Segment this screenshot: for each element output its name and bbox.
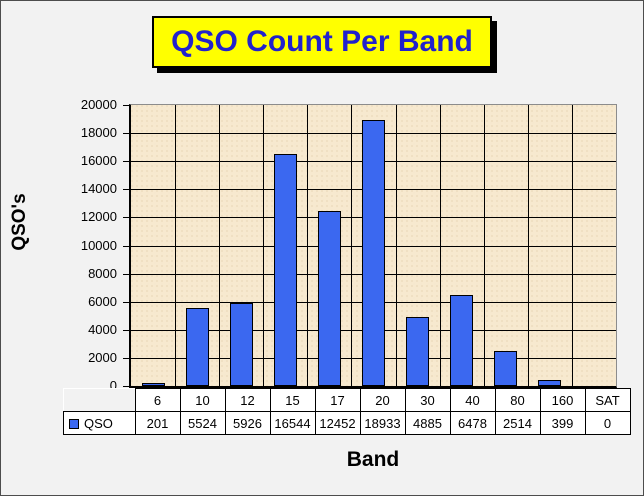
table-cell-value: 16544 bbox=[270, 412, 315, 435]
y-axis-tick-label: 4000 bbox=[51, 322, 117, 337]
y-axis-tick-label: 10000 bbox=[51, 238, 117, 253]
y-axis-tick-label: 2000 bbox=[51, 350, 117, 365]
bar bbox=[318, 211, 341, 386]
y-axis-tick-label: 20000 bbox=[51, 97, 117, 112]
table-column-header: 10 bbox=[180, 389, 225, 412]
plot-area bbox=[129, 104, 617, 388]
table-header-row: 61012151720304080160SAT bbox=[64, 389, 631, 412]
bar bbox=[186, 308, 209, 386]
y-axis-tick-label: 8000 bbox=[51, 266, 117, 281]
legend-series-label: QSO bbox=[84, 416, 113, 431]
table-column-header: 6 bbox=[135, 389, 180, 412]
bar bbox=[406, 317, 429, 386]
table-cell-value: 4885 bbox=[405, 412, 450, 435]
table-column-header: 20 bbox=[360, 389, 405, 412]
table-cell-value: 18933 bbox=[360, 412, 405, 435]
table-cell-value: 12452 bbox=[315, 412, 360, 435]
legend-series-cell: QSO bbox=[64, 412, 136, 435]
table-cell-value: 5524 bbox=[180, 412, 225, 435]
y-axis-tick-label: 12000 bbox=[51, 209, 117, 224]
y-axis-tick-label: 16000 bbox=[51, 153, 117, 168]
bar bbox=[274, 154, 297, 386]
blue-square-icon bbox=[69, 419, 79, 429]
table-column-header: 30 bbox=[405, 389, 450, 412]
table-corner-cell bbox=[64, 389, 136, 412]
bar bbox=[362, 120, 385, 386]
table-cell-value: 399 bbox=[540, 412, 585, 435]
bar-series-qso bbox=[131, 105, 616, 386]
y-axis-tick-label: 18000 bbox=[51, 125, 117, 140]
table-column-header: 80 bbox=[495, 389, 540, 412]
x-axis-title: Band bbox=[129, 448, 617, 472]
y-axis-tick-label: 14000 bbox=[51, 181, 117, 196]
y-axis-title: QSO's bbox=[9, 172, 31, 272]
table-column-header: 40 bbox=[450, 389, 495, 412]
bar bbox=[494, 351, 517, 386]
table-column-header: 17 bbox=[315, 389, 360, 412]
table-row: QSO 201552459261654412452189334885647825… bbox=[64, 412, 631, 435]
bar bbox=[142, 383, 165, 386]
data-table: 61012151720304080160SAT QSO 201552459261… bbox=[63, 388, 631, 435]
table-column-header: SAT bbox=[585, 389, 630, 412]
table-column-header: 12 bbox=[225, 389, 270, 412]
bar bbox=[538, 380, 561, 386]
bar bbox=[230, 303, 253, 386]
table-cell-value: 0 bbox=[585, 412, 630, 435]
table-cell-value: 6478 bbox=[450, 412, 495, 435]
chart-title: QSO Count Per Band bbox=[152, 16, 492, 68]
bar bbox=[450, 295, 473, 386]
table-cell-value: 2514 bbox=[495, 412, 540, 435]
table-column-header: 15 bbox=[270, 389, 315, 412]
table-cell-value: 5926 bbox=[225, 412, 270, 435]
table-cell-value: 201 bbox=[135, 412, 180, 435]
chart-canvas: QSO Count Per Band QSO's Band 0200040006… bbox=[0, 0, 644, 496]
table-column-header: 160 bbox=[540, 389, 585, 412]
y-axis-tick-label: 6000 bbox=[51, 294, 117, 309]
